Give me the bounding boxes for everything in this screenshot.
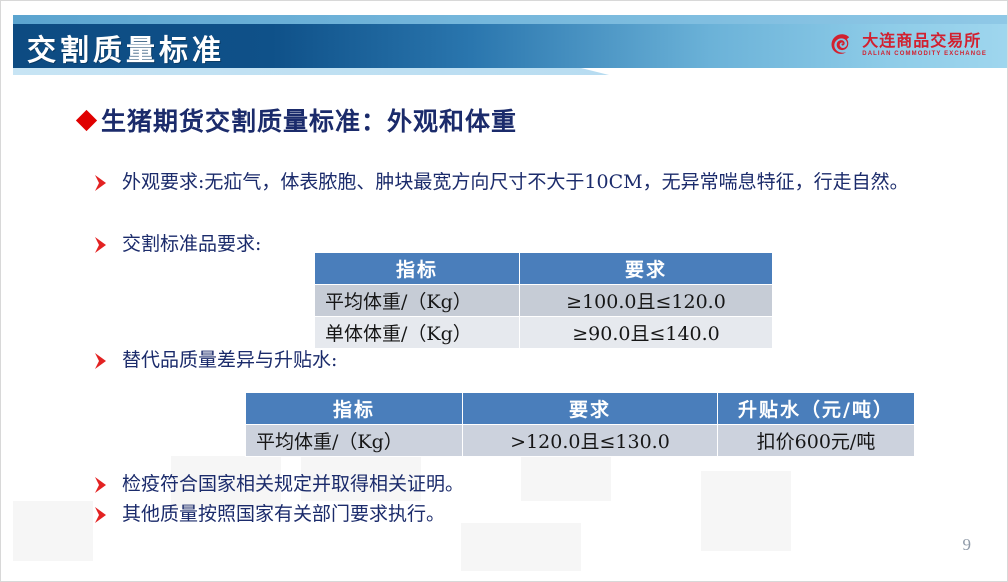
slide-title: 交割质量标准	[27, 27, 225, 69]
logo-chinese-name: 大连商品交易所	[862, 33, 987, 49]
section-heading: 生猪期货交割质量标准：外观和体重	[79, 102, 517, 138]
table-column-header: 要求	[520, 253, 773, 285]
table-cell: 平均体重/（Kg）	[315, 285, 520, 317]
watermark-patch	[13, 501, 93, 561]
section-heading-label: 生猪期货交割质量标准：外观和体重	[101, 102, 517, 138]
exchange-logo: 大连商品交易所 DALIAN COMMODITY EXCHANGE	[828, 31, 987, 58]
table-substitute-premium-discount: 指标 要求 升贴水（元/吨） 平均体重/（Kg） >120.0且≤130.0 扣…	[245, 392, 915, 457]
page-number: 9	[963, 535, 972, 555]
table-column-header: 指标	[246, 393, 463, 425]
bullet-text: 检疫符合国家相关规定并取得相关证明。	[122, 471, 464, 498]
red-arrow-bullet-icon	[93, 351, 108, 371]
table-cell: 平均体重/（Kg）	[246, 425, 463, 457]
logo-english-name: DALIAN COMMODITY EXCHANGE	[862, 51, 987, 57]
red-arrow-bullet-icon	[93, 475, 108, 495]
bullet-text: 外观要求:无疝气，体表脓胞、肿块最宽方向尺寸不大于10CM，无异常喘息特征，行走…	[122, 169, 909, 196]
logo-text-block: 大连商品交易所 DALIAN COMMODITY EXCHANGE	[862, 33, 987, 57]
bullet-appearance-requirement: 外观要求:无疝气，体表脓胞、肿块最宽方向尺寸不大于10CM，无异常喘息特征，行走…	[93, 169, 973, 196]
table-header-row: 指标 要求	[315, 253, 773, 285]
watermark-patch	[701, 471, 791, 551]
bullet-quarantine-requirement: 检疫符合国家相关规定并取得相关证明。	[93, 471, 464, 498]
table-row: 单体体重/（Kg） ≥90.0且≤140.0	[315, 317, 773, 349]
bullet-text: 交割标准品要求:	[122, 231, 261, 258]
table-cell: ≥90.0且≤140.0	[520, 317, 773, 349]
bullet-substitute-premium-discount: 替代品质量差异与升贴水:	[93, 347, 337, 374]
table-cell: 单体体重/（Kg）	[315, 317, 520, 349]
red-diamond-icon	[76, 109, 97, 130]
bullet-text: 其他质量按照国家有关部门要求执行。	[122, 501, 445, 528]
slide-canvas: 交割质量标准 大连商品交易所 DALIAN COMMODITY EXCHANGE…	[0, 0, 1008, 582]
table-column-header: 要求	[463, 393, 718, 425]
bullet-other-quality-requirement: 其他质量按照国家有关部门要求执行。	[93, 501, 445, 528]
table-column-header: 指标	[315, 253, 520, 285]
table-cell: 扣价600元/吨	[718, 425, 915, 457]
table-column-header: 升贴水（元/吨）	[718, 393, 915, 425]
bullet-text: 替代品质量差异与升贴水:	[122, 347, 337, 374]
red-arrow-bullet-icon	[93, 505, 108, 525]
table-cell: ≥100.0且≤120.0	[520, 285, 773, 317]
table-row: 平均体重/（Kg） >120.0且≤130.0 扣价600元/吨	[246, 425, 915, 457]
table-header-row: 指标 要求 升贴水（元/吨）	[246, 393, 915, 425]
swirl-logo-icon	[828, 31, 855, 58]
table-cell: >120.0且≤130.0	[463, 425, 718, 457]
red-arrow-bullet-icon	[93, 173, 108, 193]
red-arrow-bullet-icon	[93, 235, 108, 255]
table-row: 平均体重/（Kg） ≥100.0且≤120.0	[315, 285, 773, 317]
bullet-standard-product-requirement: 交割标准品要求:	[93, 231, 261, 258]
header-diagonal-cut	[581, 68, 1008, 78]
table-delivery-standard: 指标 要求 平均体重/（Kg） ≥100.0且≤120.0 单体体重/（Kg） …	[314, 252, 773, 349]
watermark-patch	[461, 523, 581, 571]
header-top-strip	[13, 15, 1008, 24]
